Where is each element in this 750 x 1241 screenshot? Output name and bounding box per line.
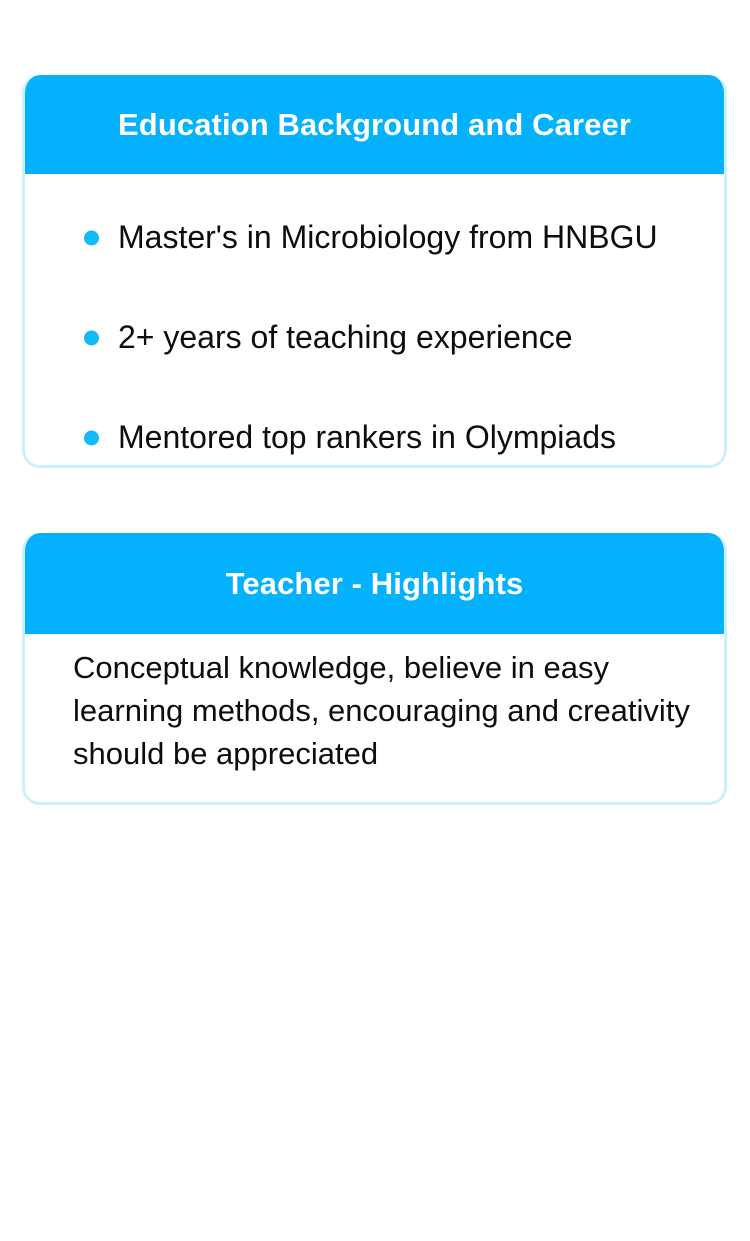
list-item: 2+ years of teaching experience (25, 288, 724, 388)
list-item: Master's in Microbiology from HNBGU (25, 188, 724, 288)
page-root: Education Background and Career Master's… (0, 0, 750, 1241)
bullet-dot-icon (84, 231, 99, 246)
card-highlights-body: Conceptual knowledge, believe in easy le… (25, 634, 724, 805)
highlights-paragraph: Conceptual knowledge, believe in easy le… (73, 646, 690, 775)
list-item: Mentored top rankers in Olympiads (25, 388, 724, 468)
bullet-dot-icon (84, 431, 99, 446)
list-item-label: 2+ years of teaching experience (118, 320, 573, 355)
card-highlights-header: Teacher - Highlights (22, 533, 727, 634)
card-education-header: Education Background and Career (22, 75, 727, 174)
list-item-label: Mentored top rankers in Olympiads (118, 420, 616, 455)
card-education-body: Master's in Microbiology from HNBGU 2+ y… (25, 174, 724, 465)
bullet-dot-icon (84, 331, 99, 346)
card-teacher-highlights: Teacher - Highlights Conceptual knowledg… (22, 533, 727, 805)
education-bullet-list: Master's in Microbiology from HNBGU 2+ y… (25, 188, 724, 468)
list-item-label: Master's in Microbiology from HNBGU (118, 220, 658, 255)
card-education-background: Education Background and Career Master's… (22, 75, 727, 468)
